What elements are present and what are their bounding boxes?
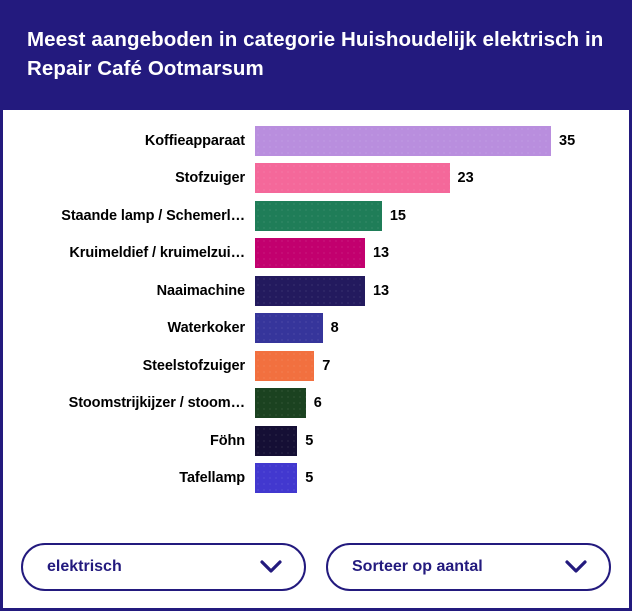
bar-category-label: Steelstofzuiger	[3, 358, 255, 374]
bar-category-label: Föhn	[3, 433, 255, 449]
bar[interactable]	[255, 426, 297, 456]
bar[interactable]	[255, 463, 297, 493]
sort-select[interactable]: Sorteer op aantal	[326, 543, 611, 591]
bar-track: 35	[255, 122, 629, 160]
bar-chart: Koffieapparaat35Stofzuiger23Staande lamp…	[0, 110, 632, 525]
bar[interactable]	[255, 313, 323, 343]
bar-category-label: Naaimachine	[3, 283, 255, 299]
bar-row: Tafellamp5	[3, 460, 629, 498]
bar-row: Koffieapparaat35	[3, 122, 629, 160]
widget-header: Meest aangeboden in categorie Huishoudel…	[0, 0, 632, 110]
bar-track: 6	[255, 385, 629, 423]
page-title: Meest aangeboden in categorie Huishoudel…	[27, 25, 605, 83]
bar-row: Stoomstrijkijzer / stoom…6	[3, 385, 629, 423]
bar-row: Staande lamp / Schemerl…15	[3, 197, 629, 235]
widget-footer: elektrisch Sorteer op aantal	[0, 525, 632, 611]
chart-widget: Meest aangeboden in categorie Huishoudel…	[0, 0, 632, 611]
bar-row: Stofzuiger23	[3, 160, 629, 198]
bar-track: 5	[255, 460, 629, 498]
bar-track: 5	[255, 422, 629, 460]
bar-row: Föhn5	[3, 422, 629, 460]
bar[interactable]	[255, 351, 314, 381]
sort-select-value: Sorteer op aantal	[352, 558, 483, 576]
bar-row: Naaimachine13	[3, 272, 629, 310]
chevron-down-icon	[260, 560, 282, 574]
bar-value-label: 35	[559, 133, 575, 149]
bar[interactable]	[255, 276, 365, 306]
bar-value-label: 13	[373, 245, 389, 261]
bar[interactable]	[255, 126, 551, 156]
bar-value-label: 8	[331, 320, 339, 336]
bar-track: 23	[255, 160, 629, 198]
bar-value-label: 15	[390, 208, 406, 224]
bar[interactable]	[255, 388, 306, 418]
bar-category-label: Staande lamp / Schemerl…	[3, 208, 255, 224]
bar-track: 8	[255, 310, 629, 348]
bar-value-label: 5	[305, 470, 313, 486]
chevron-down-icon	[565, 560, 587, 574]
bar[interactable]	[255, 163, 450, 193]
bar-row: Waterkoker8	[3, 310, 629, 348]
bar-category-label: Stoomstrijkijzer / stoom…	[3, 395, 255, 411]
bar-row: Steelstofzuiger7	[3, 347, 629, 385]
category-select-value: elektrisch	[47, 558, 122, 576]
bar-category-label: Stofzuiger	[3, 170, 255, 186]
bar-category-label: Waterkoker	[3, 320, 255, 336]
bar[interactable]	[255, 201, 382, 231]
bar-value-label: 7	[322, 358, 330, 374]
bar-track: 7	[255, 347, 629, 385]
bar-category-label: Koffieapparaat	[3, 133, 255, 149]
bar-value-label: 6	[314, 395, 322, 411]
bar-track: 13	[255, 272, 629, 310]
bar-track: 15	[255, 197, 629, 235]
bar-track: 13	[255, 235, 629, 273]
bar-value-label: 23	[458, 170, 474, 186]
bar-category-label: Kruimeldief / kruimelzui…	[3, 245, 255, 261]
category-select[interactable]: elektrisch	[21, 543, 306, 591]
bar[interactable]	[255, 238, 365, 268]
bar-rows: Koffieapparaat35Stofzuiger23Staande lamp…	[3, 122, 629, 497]
bar-value-label: 13	[373, 283, 389, 299]
bar-row: Kruimeldief / kruimelzui…13	[3, 235, 629, 273]
bar-category-label: Tafellamp	[3, 470, 255, 486]
bar-value-label: 5	[305, 433, 313, 449]
